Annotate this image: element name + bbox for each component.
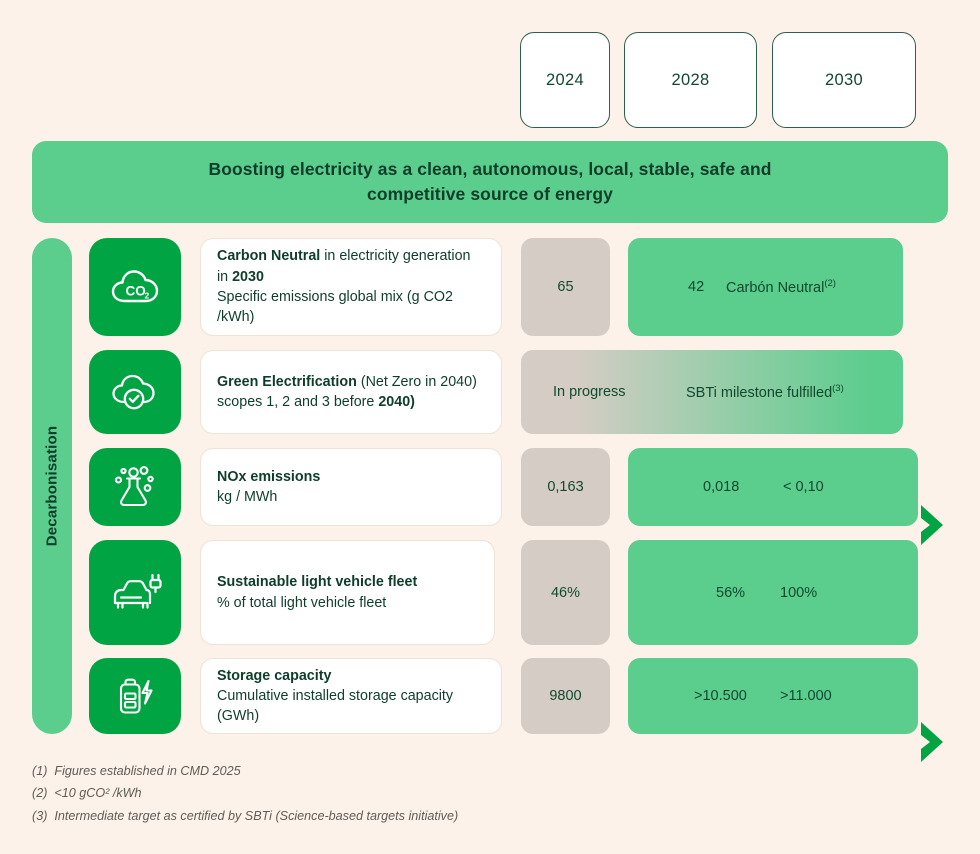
year-label-2024: 2024 xyxy=(546,71,584,90)
metric-desc: kg / MWh xyxy=(217,489,277,505)
target-bar-storage-capacity: >10.500 >11.000 xyxy=(628,658,918,734)
row-nox-emissions: NOx emissions kg / MWh 0,163 0,018 < 0,1… xyxy=(0,448,980,526)
metric-card-carbon-neutral: Carbon Neutral in electricity generation… xyxy=(200,238,502,336)
metric-desc: % of total light vehicle fleet xyxy=(217,595,386,611)
target-2028-label: 56% xyxy=(716,585,745,601)
metric-card-nox-emissions: NOx emissions kg / MWh xyxy=(200,448,502,526)
year-label-2028: 2028 xyxy=(672,71,710,90)
current-value-label: 0,163 xyxy=(547,479,583,495)
row-carbon-neutral: CO 2 Carbon Neutral in electricity gener… xyxy=(0,238,980,336)
infographic-root: 2024 2028 2030 Boosting electricity as a… xyxy=(0,0,980,854)
metric-card-text: Carbon Neutral in electricity generation… xyxy=(217,246,485,327)
progress-bar-green-electrification: In progress SBTi milestone fulfilled(3) xyxy=(521,350,903,434)
current-value-label: 65 xyxy=(557,279,573,295)
target-2030-label: >11.000 xyxy=(780,688,832,704)
target-2028-label: SBTi milestone fulfilled(3) xyxy=(686,383,844,401)
metric-title: NOx emissions xyxy=(217,469,320,485)
footnote-2: (2) <10 gCO² /kWh xyxy=(32,782,458,804)
target-2030-label: Carbón Neutral(2) xyxy=(726,278,836,296)
metric-card-text: Sustainable light vehicle fleet % of tot… xyxy=(217,572,478,613)
metric-card-green-electrification: Green Electrification (Net Zero in 2040)… xyxy=(200,350,502,434)
row-storage-capacity: Storage capacity Cumulative installed st… xyxy=(0,658,980,734)
metric-title: Carbon Neutral xyxy=(217,248,320,264)
target-2028-label: 0,018 xyxy=(703,479,739,495)
year-label-2030: 2030 xyxy=(825,71,863,90)
metric-title-bold2: 2030 xyxy=(232,269,264,285)
banner-line-2: competitive source of energy xyxy=(367,184,613,204)
metric-card-storage-capacity: Storage capacity Cumulative installed st… xyxy=(200,658,502,734)
svg-text:2: 2 xyxy=(145,291,150,301)
current-value-label: 9800 xyxy=(549,688,581,704)
current-value-label: In progress xyxy=(553,384,626,400)
banner-line-1: Boosting electricity as a clean, autonom… xyxy=(208,159,771,179)
metric-desc: Specific emissions global mix (g CO2 /kW… xyxy=(217,289,453,325)
row-sustainable-fleet: Sustainable light vehicle fleet % of tot… xyxy=(0,540,980,645)
co2-cloud-icon: CO 2 xyxy=(89,238,181,336)
current-value-sustainable-fleet: 46% xyxy=(521,540,610,645)
metric-card-sustainable-fleet: Sustainable light vehicle fleet % of tot… xyxy=(200,540,495,645)
metric-card-text: NOx emissions kg / MWh xyxy=(217,467,485,508)
battery-bolt-icon xyxy=(89,658,181,734)
footnotes: (1) Figures established in CMD 2025 (2) … xyxy=(32,760,458,827)
current-value-nox-emissions: 0,163 xyxy=(521,448,610,526)
metric-desc: Cumulative installed storage capacity (G… xyxy=(217,688,453,724)
target-2028-label: 42 xyxy=(688,279,704,295)
year-box-2024: 2024 xyxy=(520,32,610,128)
current-value-label: 46% xyxy=(551,585,580,601)
current-value-carbon-neutral: 65 xyxy=(521,238,610,336)
metric-card-text: Green Electrification (Net Zero in 2040)… xyxy=(217,372,485,413)
target-2028-label: >10.500 xyxy=(694,688,747,704)
current-value-storage-capacity: 9800 xyxy=(521,658,610,734)
metric-title: Storage capacity xyxy=(217,668,331,684)
row-green-electrification: Green Electrification (Net Zero in 2040)… xyxy=(0,350,980,434)
year-box-2028: 2028 xyxy=(624,32,757,128)
cloud-check-icon xyxy=(89,350,181,434)
footnote-3: (3) Intermediate target as certified by … xyxy=(32,805,458,827)
target-bar-nox-emissions: 0,018 < 0,10 xyxy=(628,448,918,526)
banner-text: Boosting electricity as a clean, autonom… xyxy=(208,157,771,208)
target-2030-label: 100% xyxy=(780,585,817,601)
metric-title-bold2: 2040) xyxy=(378,394,415,410)
metric-title: Sustainable light vehicle fleet xyxy=(217,574,417,590)
section-banner: Boosting electricity as a clean, autonom… xyxy=(32,141,948,223)
target-bar-carbon-neutral: 42 Carbón Neutral(2) xyxy=(628,238,903,336)
target-bar-sustainable-fleet: 56% 100% xyxy=(628,540,918,645)
metric-title: Green Electrification xyxy=(217,374,357,390)
footnote-1: (1) Figures established in CMD 2025 xyxy=(32,760,458,782)
svg-text:CO: CO xyxy=(126,284,146,299)
metric-card-text: Storage capacity Cumulative installed st… xyxy=(217,666,485,727)
target-2030-label: < 0,10 xyxy=(783,479,824,495)
year-box-2030: 2030 xyxy=(772,32,916,128)
electric-car-icon xyxy=(89,540,181,645)
flask-icon xyxy=(89,448,181,526)
year-header: 2024 2028 2030 xyxy=(0,32,980,128)
